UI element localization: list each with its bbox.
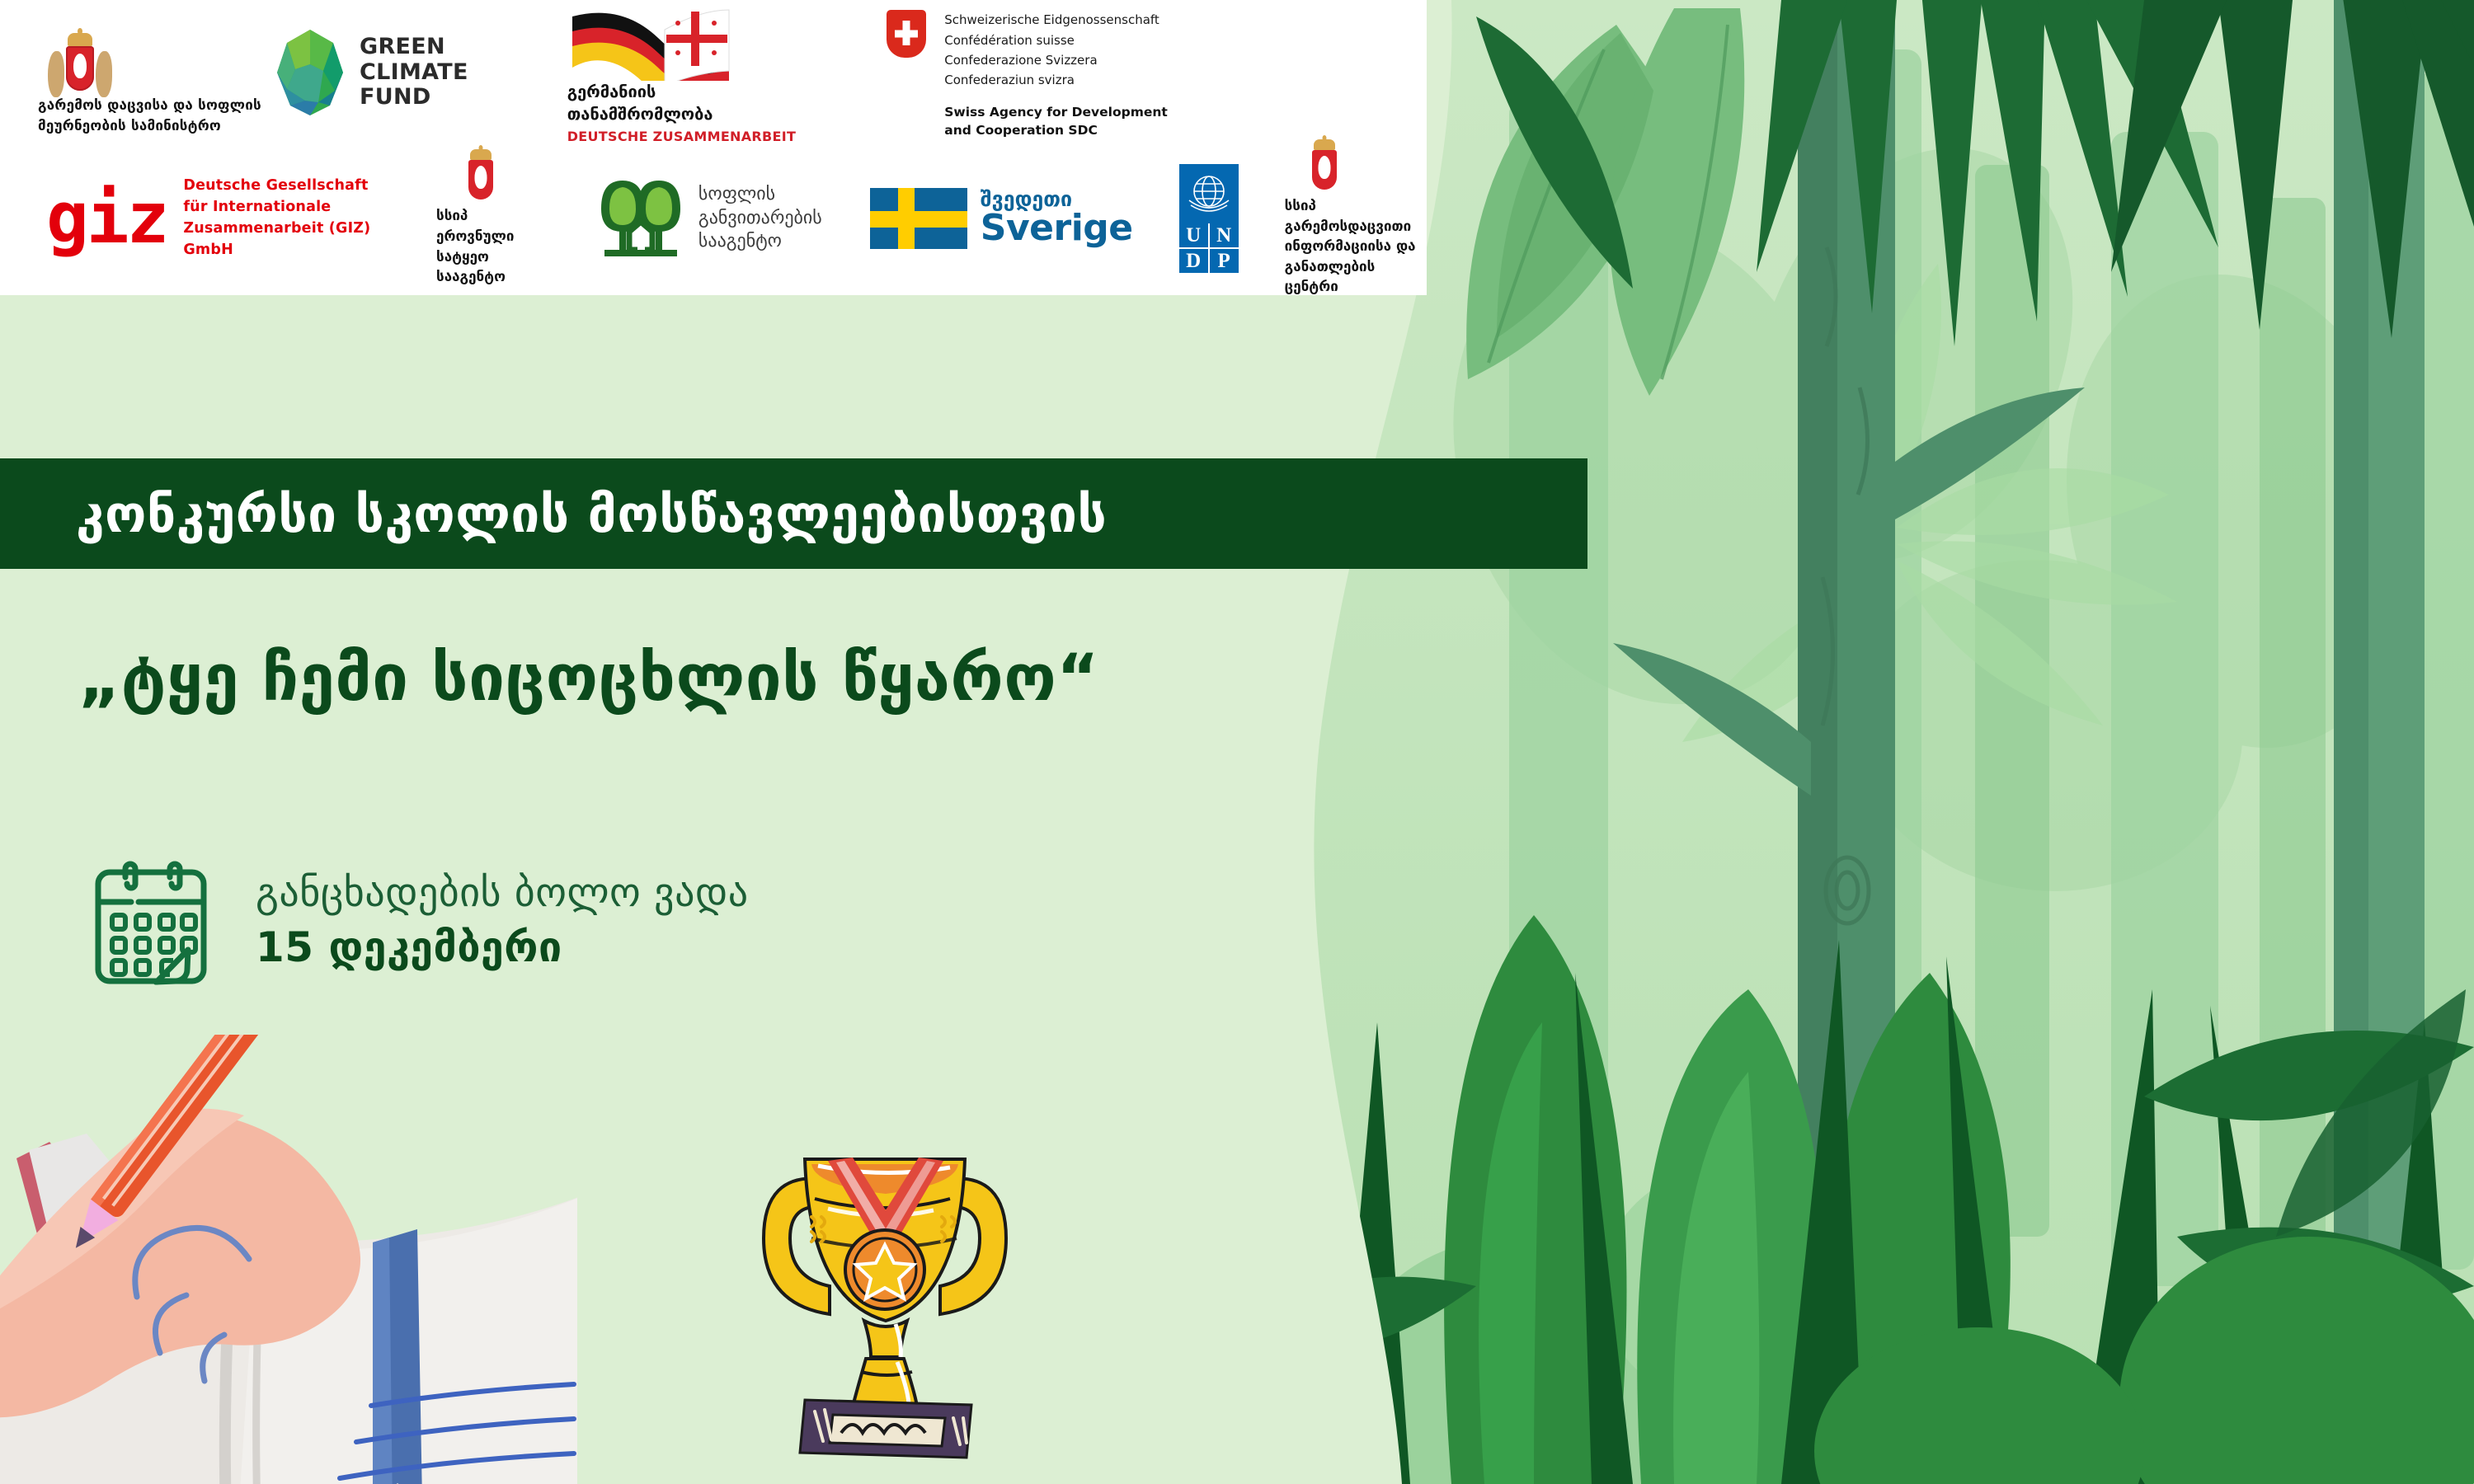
rda-line-3: სააგენტო <box>698 230 822 254</box>
giz-line-1: Deutsche Gesellschaft <box>183 176 377 197</box>
nfa-line-1: სსიპ ეროვნული <box>436 206 547 247</box>
giz-label: Deutsche Gesellschaft für Internationale… <box>183 176 377 261</box>
sweden-label: შვედეთი Sverige <box>981 189 1133 247</box>
hand-pencil-notebook-illustration <box>0 1035 577 1484</box>
two-trees-house-icon <box>598 177 684 260</box>
undp-letter-p: P <box>1210 249 1239 273</box>
gcf-label: GREEN CLIMATE FUND <box>360 35 468 110</box>
deadline-date: 15 დეკემბერი <box>256 922 749 974</box>
calendar-icon <box>89 857 213 985</box>
deadline-label: განცხადების ბოლო ვადა <box>256 870 749 917</box>
logo-undp: U N D P <box>1179 164 1239 273</box>
swiss-line-2: Confédération suisse <box>944 31 1168 50</box>
sweden-line-sv: Sverige <box>981 209 1133 247</box>
logo-ministry-label: გარემოს დაცვისა და სოფლის მეურნეობის სამ… <box>38 96 261 136</box>
sdc-bold-1: Swiss Agency for Development <box>944 103 1168 121</box>
dz-line-2: თანამშრომლობა <box>567 103 713 125</box>
logo-green-climate-fund: GREEN CLIMATE FUND <box>274 28 468 117</box>
undp-letter-n: N <box>1210 223 1239 247</box>
page-title: კონკურსი სკოლის მოსწავლეებისთვის <box>76 484 1107 544</box>
swiss-line-4: Confederaziun svizra <box>944 70 1168 90</box>
swiss-line-1: Schweizerische Eidgenossenschaft <box>944 10 1168 30</box>
undp-logo-block: U N D P <box>1179 164 1239 273</box>
logo-sweden: შვედეთი Sverige <box>870 188 1133 249</box>
giz-wordmark: giz <box>46 189 167 248</box>
sweden-flag-icon <box>870 188 967 249</box>
logo-eiec: სსიპ გარემოსდაცვითი ინფორმაციისა და განა… <box>1285 139 1427 298</box>
trophy-cup-illustration <box>726 1146 1039 1484</box>
logo-giz: giz Deutsche Gesellschaft für Internatio… <box>46 176 377 261</box>
gcf-line-3: FUND <box>360 85 468 110</box>
contest-theme-title: „ტყე ჩემი სიცოცხლის წყარო“ <box>78 641 1099 716</box>
georgia-small-coat-of-arms-icon <box>464 149 497 200</box>
logo-rural-development-agency: სოფლის განვითარების სააგენტო <box>598 177 822 260</box>
gcf-line-2: CLIMATE <box>360 60 468 86</box>
deadline-text: განცხადების ბოლო ვადა 15 დეკემბერი <box>256 870 749 973</box>
swiss-line-3: Confederazione Svizzera <box>944 50 1168 70</box>
georgia-small-coat-of-arms-icon <box>1308 139 1341 190</box>
swiss-cross-shield-icon <box>887 10 926 58</box>
undp-globe-icon <box>1179 164 1239 223</box>
dz-line-1: გერმანიის <box>567 81 656 103</box>
ministry-line-1: გარემოს დაცვისა და სოფლის <box>38 96 261 116</box>
rda-line-2: განვითარების <box>698 207 822 231</box>
ministry-line-2: მეურნეობის სამინისტრო <box>38 116 221 137</box>
giz-line-2: für Internationale <box>183 197 377 218</box>
deadline-block: განცხადების ბოლო ვადა 15 დეკემბერი <box>89 857 749 985</box>
logo-swiss-sdc: Schweizerische Eidgenossenschaft Confédé… <box>887 5 1168 139</box>
logo-national-forestry-agency: სსიპ ეროვნული სატყეო სააგენტო <box>436 149 547 288</box>
rda-label: სოფლის განვითარების სააგენტო <box>698 183 822 254</box>
undp-letter-u: U <box>1179 223 1208 247</box>
eiec-line-2: ინფორმაციისა და <box>1285 237 1416 257</box>
headline-band: კონკურსი სკოლის მოსწავლეებისთვის <box>0 458 1587 569</box>
eiec-line-3: განათლების ცენტრი <box>1285 257 1427 298</box>
dz-caption: DEUTSCHE ZUSAMMENARBEIT <box>567 129 797 144</box>
sdc-bold-2: and Cooperation SDC <box>944 121 1168 139</box>
nfa-line-2: სატყეო სააგენტო <box>436 247 547 288</box>
partner-logo-bar: გარემოს დაცვისა და სოფლის მეურნეობის სამ… <box>0 0 1427 295</box>
eiec-line-1: სსიპ გარემოსდაცვითი <box>1285 196 1427 237</box>
logo-row-1: გარემოს დაცვისა და სოფლის მეურნეობის სამ… <box>0 7 1168 139</box>
undp-letter-d: D <box>1179 249 1208 273</box>
giz-line-3: Zusammenarbeit (GIZ) GmbH <box>183 218 377 261</box>
logo-row-2: giz Deutsche Gesellschaft für Internatio… <box>0 157 1427 280</box>
german-georgian-flag-ribbon-icon <box>567 2 732 81</box>
logo-deutsche-zusammenarbeit: გერმანიის თანამშრომლობა DEUTSCHE ZUSAMME… <box>567 2 797 144</box>
undp-letters: U N D P <box>1179 223 1239 273</box>
rda-line-1: სოფლის <box>698 183 822 207</box>
gcf-gem-icon <box>274 28 346 117</box>
gcf-line-1: GREEN <box>360 35 468 60</box>
